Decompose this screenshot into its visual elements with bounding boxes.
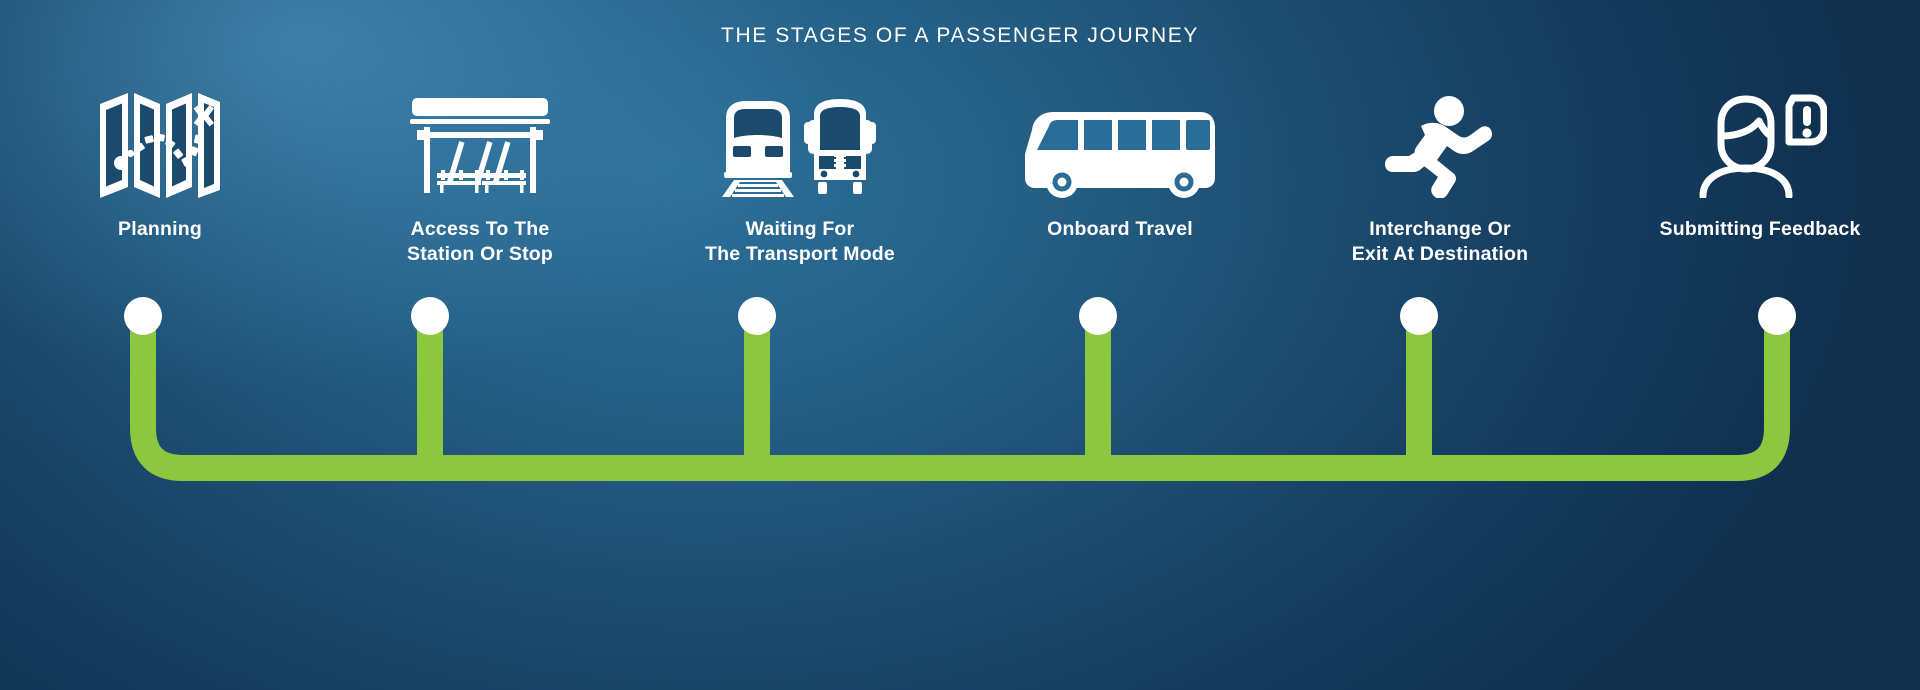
stage-interchange-or-exit[interactable]: Interchange Or Exit At Destination (1280, 88, 1600, 278)
timeline-dots (124, 297, 1796, 335)
page-title: THE STAGES OF A PASSENGER JOURNEY (0, 24, 1920, 48)
timeline-stems (430, 316, 1419, 468)
stage-label: Planning (118, 217, 202, 242)
timeline-track (143, 316, 1777, 468)
person-with-alert-bubble-icon (1693, 88, 1827, 198)
stage-planning[interactable]: Planning (0, 88, 320, 278)
stage-label: Onboard Travel (1047, 217, 1193, 242)
train-and-bus-front-icon (714, 88, 886, 198)
stage-label: Access To The Station Or Stop (407, 217, 553, 267)
bus-shelter-icon (404, 88, 556, 198)
stage-label: Submitting Feedback (1660, 217, 1861, 242)
timeline-dot[interactable] (411, 297, 449, 335)
journey-timeline (0, 288, 1920, 518)
timeline-dot[interactable] (124, 297, 162, 335)
stage-label: Waiting For The Transport Mode (705, 217, 895, 267)
stage-onboard-travel[interactable]: Onboard Travel (960, 88, 1280, 278)
stage-label: Interchange Or Exit At Destination (1352, 217, 1528, 267)
stage-submitting-feedback[interactable]: Submitting Feedback (1600, 88, 1920, 278)
passenger-journey-infographic: THE STAGES OF A PASSENGER JOURNEY (0, 0, 1920, 690)
coach-side-view-icon (1022, 88, 1218, 198)
stage-waiting-for-transport[interactable]: Waiting For The Transport Mode (640, 88, 960, 278)
timeline-dot[interactable] (738, 297, 776, 335)
stage-access-to-station[interactable]: Access To The Station Or Stop (320, 88, 640, 278)
timeline-dot[interactable] (1400, 297, 1438, 335)
folded-map-route-icon (97, 88, 223, 198)
timeline-dot[interactable] (1079, 297, 1117, 335)
running-person-icon (1385, 88, 1495, 198)
stages-row: Planning (0, 88, 1920, 278)
timeline-dot[interactable] (1758, 297, 1796, 335)
